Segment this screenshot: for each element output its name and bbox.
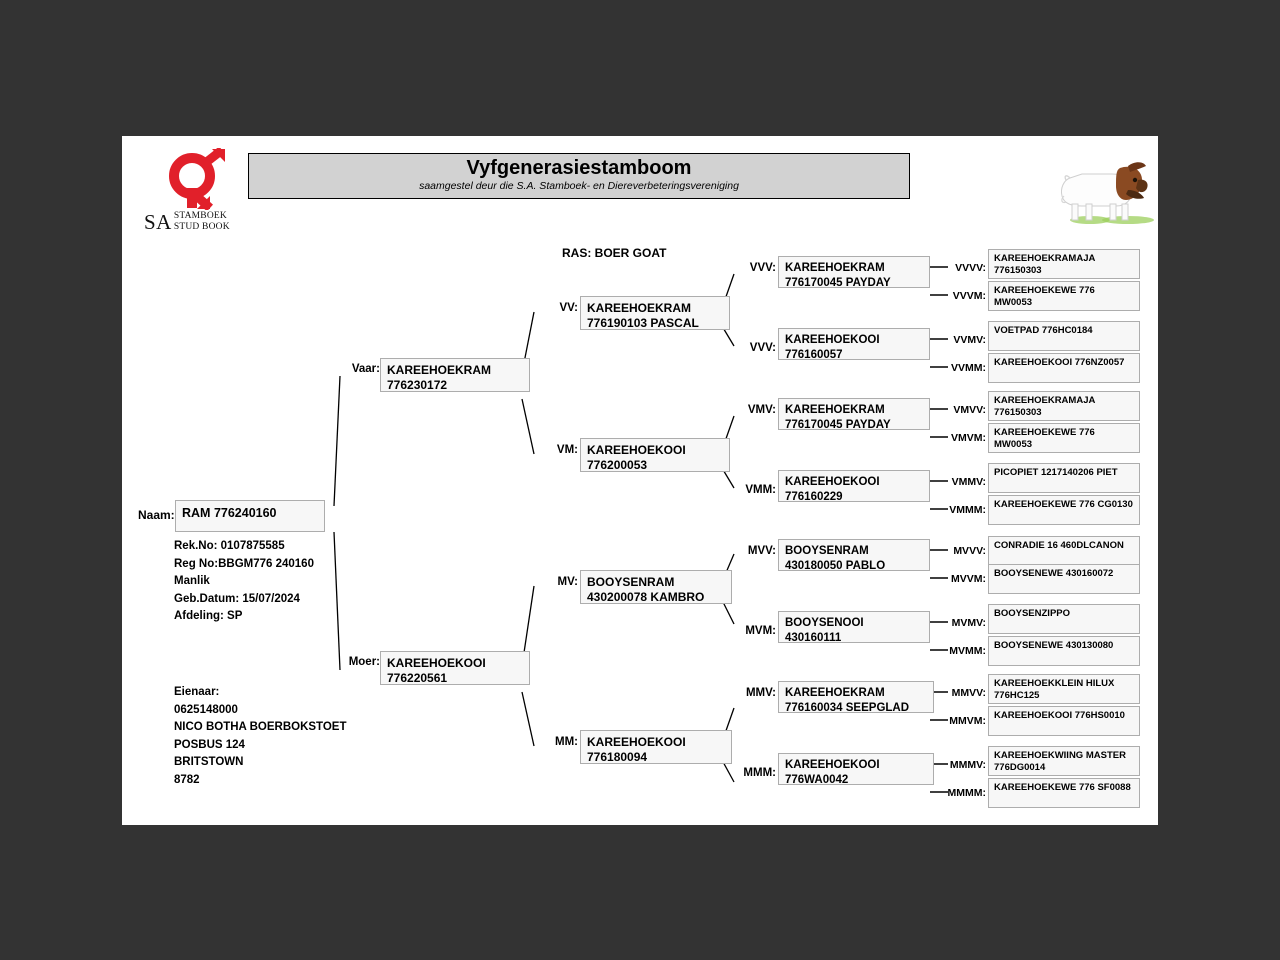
pedigree-box-mmvv[interactable]: KAREEHOEKKLEIN HILUX 776HC125 — [988, 674, 1140, 704]
pedigree-box-vmvm-line1: KAREEHOEKEWE 776 — [994, 427, 1134, 439]
owner-name: NICO BOTHA BOERBOKSTOET — [174, 719, 347, 737]
relation-label-vmv: VMV: — [730, 404, 776, 416]
pedigree-box-mvm[interactable]: BOOYSENOOI 430160111 — [778, 611, 930, 643]
pedigree-box-mvvv[interactable]: CONRADIE 16 460DLCANON — [988, 536, 1140, 566]
pedigree-box-vmv-line2: 776170045 PAYDAY — [785, 418, 923, 431]
pedigree-box-vmv[interactable]: KAREEHOEKRAM 776170045 PAYDAY — [778, 398, 930, 430]
pedigree-box-mmm-line2: 776WA0042 — [785, 773, 927, 786]
pedigree-box-mmm-line1: KAREEHOEKOOI — [785, 758, 927, 773]
relation-label-vmvm: VMVM: — [940, 432, 986, 444]
relation-label-vvvm: VVVM: — [944, 290, 986, 302]
relation-label-mvvv: MVVV: — [944, 545, 986, 557]
pedigree-box-moer[interactable]: KAREEHOEKOOI 776220561 — [380, 651, 530, 685]
pedigree-box-mmv-line2: 776160034 SEEPGLAD — [785, 701, 927, 714]
pedigree-box-vvm-line1: KAREEHOEKOOI — [785, 333, 923, 348]
relation-label-mvmv: MVMV: — [940, 617, 986, 629]
pedigree-box-mmmm[interactable]: KAREEHOEKEWE 776 SF0088 — [988, 778, 1140, 808]
subject-detail-birthdate: Geb.Datum: 15/07/2024 — [174, 591, 314, 609]
pedigree-box-vvm[interactable]: KAREEHOEKOOI 776160057 — [778, 328, 930, 360]
owner-city: BRITSTOWN — [174, 754, 347, 772]
relation-label-vaar: Vaar: — [336, 363, 380, 375]
pedigree-box-vmvm-line2: MW0053 — [994, 439, 1134, 451]
pedigree-box-mvm-line1: BOOYSENOOI — [785, 616, 923, 631]
pedigree-box-vaar-line1: KAREEHOEKRAM — [387, 363, 523, 378]
owner-postcode: 8782 — [174, 772, 347, 790]
pedigree-box-vmmv[interactable]: PICOPIET 1217140206 PIET — [988, 463, 1140, 493]
pedigree-box-vm[interactable]: KAREEHOEKOOI 776200053 — [580, 438, 730, 472]
pedigree-box-vvmv-line1: VOETPAD 776HC0184 — [994, 325, 1134, 337]
relation-label-vmvv: VMVV: — [944, 404, 986, 416]
relation-label-vmmv: VMMV: — [940, 476, 986, 488]
subject-name-label: Naam: — [138, 508, 175, 522]
pedigree-box-vmm-line2: 776160229 — [785, 490, 923, 503]
relation-label-mvmm: MVMM: — [936, 645, 986, 657]
pedigree-box-vmm-line1: KAREEHOEKOOI — [785, 475, 923, 490]
pedigree-box-mv-line2: 430200078 KAMBRO — [587, 590, 725, 604]
owner-address-line1: POSBUS 124 — [174, 737, 347, 755]
pedigree-box-vvvv[interactable]: KAREEHOEKRAMAJA 776150303 — [988, 249, 1140, 279]
pedigree-box-mmm[interactable]: KAREEHOEKOOI 776WA0042 — [778, 753, 934, 785]
relation-label-mvvm: MVVM: — [940, 573, 986, 585]
pedigree-box-vmmm-line1: KAREEHOEKEWE 776 CG0130 — [994, 499, 1134, 511]
screenshot-root: SASTAMBOEKSTUD BOOK Vyfgenerasiestamboom… — [0, 0, 1280, 960]
pedigree-box-mmvm-line1: KAREEHOEKOOI 776HS0010 — [994, 710, 1134, 722]
subject-details: Rek.No: 0107875585 Reg No:BBGM776 240160… — [174, 538, 314, 626]
pedigree-box-vvmm[interactable]: KAREEHOEKOOI 776NZ0057 — [988, 353, 1140, 383]
pedigree-box-vv[interactable]: KAREEHOEKRAM 776190103 PASCAL — [580, 296, 730, 330]
pedigree-box-vvv-line1: KAREEHOEKRAM — [785, 261, 923, 276]
pedigree-box-mv-line1: BOOYSENRAM — [587, 575, 725, 590]
relation-label-mmm: MMM: — [720, 767, 776, 779]
pedigree-box-vmmm[interactable]: KAREEHOEKEWE 776 CG0130 — [988, 495, 1140, 525]
pedigree-box-mm[interactable]: KAREEHOEKOOI 776180094 — [580, 730, 732, 764]
subject-name: RAM 776240160 — [182, 505, 318, 521]
relation-label-vmmm: VMMM: — [936, 504, 986, 516]
relation-label-vvm: VVV: — [730, 342, 776, 354]
pedigree-box-mvmm[interactable]: BOOYSENEWE 430130080 — [988, 636, 1140, 666]
pedigree-box-mm-line2: 776180094 — [587, 750, 725, 764]
relation-label-mmvv: MMVV: — [940, 687, 986, 699]
pedigree-box-moer-line2: 776220561 — [387, 671, 523, 685]
pedigree-box-mmvm[interactable]: KAREEHOEKOOI 776HS0010 — [988, 706, 1140, 736]
owner-label: Eienaar: — [174, 684, 347, 702]
pedigree-box-vmvv-line1: KAREEHOEKRAMAJA — [994, 395, 1134, 407]
relation-label-mmv: MMV: — [724, 687, 776, 699]
relation-label-vvmv: VVMV: — [944, 334, 986, 346]
pedigree-box-vm-line1: KAREEHOEKOOI — [587, 443, 723, 458]
relation-label-vm: VM: — [534, 444, 578, 456]
pedigree-box-vvvm-line1: KAREEHOEKEWE 776 — [994, 285, 1134, 297]
pedigree-box-vv-line2: 776190103 PASCAL — [587, 316, 723, 330]
relation-label-vvvv: VVVV: — [948, 262, 986, 274]
relation-label-vvv: VVV: — [730, 262, 776, 274]
pedigree-box-mvvm[interactable]: BOOYSENEWE 430160072 — [988, 564, 1140, 594]
relation-label-mvv: MVV: — [726, 545, 776, 557]
pedigree-box-mvvm-line1: BOOYSENEWE 430160072 — [994, 568, 1134, 580]
owner-phone: 0625148000 — [174, 702, 347, 720]
owner-details: Eienaar: 0625148000 NICO BOTHA BOERBOKST… — [174, 684, 347, 790]
pedigree-box-moer-line1: KAREEHOEKOOI — [387, 656, 523, 671]
pedigree-box-mvmm-line1: BOOYSENEWE 430130080 — [994, 640, 1134, 652]
pedigree-box-vmv-line1: KAREEHOEKRAM — [785, 403, 923, 418]
pedigree-box-mmmm-line1: KAREEHOEKEWE 776 SF0088 — [994, 782, 1134, 794]
pedigree-box-vvvv-line2: 776150303 — [994, 265, 1134, 277]
pedigree-box-mm-line1: KAREEHOEKOOI — [587, 735, 725, 750]
pedigree-box-vmvv-line2: 776150303 — [994, 407, 1134, 419]
pedigree-box-vvmm-line1: KAREEHOEKOOI 776NZ0057 — [994, 357, 1134, 369]
relation-label-vvmm: VVMM: — [940, 362, 986, 374]
relation-label-mmvm: MMVM: — [936, 715, 986, 727]
pedigree-box-vvvv-line1: KAREEHOEKRAMAJA — [994, 253, 1134, 265]
relation-label-vv: VV: — [534, 302, 578, 314]
pedigree-box-mmvv-line1: KAREEHOEKKLEIN HILUX — [994, 678, 1134, 690]
relation-label-moer: Moer: — [328, 656, 380, 668]
pedigree-box-vmvm[interactable]: KAREEHOEKEWE 776 MW0053 — [988, 423, 1140, 453]
pedigree-box-mvv-line1: BOOYSENRAM — [785, 544, 923, 559]
pedigree-box-mmmv[interactable]: KAREEHOEKWIING MASTER 776DG0014 — [988, 746, 1140, 776]
pedigree-box-vv-line1: KAREEHOEKRAM — [587, 301, 723, 316]
relation-label-mmmv: MMMV: — [936, 759, 986, 771]
pedigree-box-vmmv-line1: PICOPIET 1217140206 PIET — [994, 467, 1134, 479]
pedigree-box-vmvv[interactable]: KAREEHOEKRAMAJA 776150303 — [988, 391, 1140, 421]
pedigree-document-page: SASTAMBOEKSTUD BOOK Vyfgenerasiestamboom… — [122, 136, 1158, 825]
pedigree-box-vaar[interactable]: KAREEHOEKRAM 776230172 — [380, 358, 530, 392]
relation-label-mv: MV: — [534, 576, 578, 588]
pedigree-box-mv[interactable]: BOOYSENRAM 430200078 KAMBRO — [580, 570, 732, 604]
pedigree-box-mvm-line2: 430160111 — [785, 631, 923, 644]
subject-detail-afdeling: Afdeling: SP — [174, 608, 314, 626]
pedigree-box-vvv[interactable]: KAREEHOEKRAM 776170045 PAYDAY — [778, 256, 930, 288]
pedigree-box-mvvv-line1: CONRADIE 16 460DLCANON — [994, 540, 1134, 552]
relation-label-vmm: VMM: — [724, 484, 776, 496]
subject-detail-rekno: Rek.No: 0107875585 — [174, 538, 314, 556]
pedigree-box-mmvv-line2: 776HC125 — [994, 690, 1134, 702]
relation-label-mm: MM: — [534, 736, 578, 748]
pedigree-box-mmmv-line2: 776DG0014 — [994, 762, 1134, 774]
pedigree-box-mvv[interactable]: BOOYSENRAM 430180050 PABLO — [778, 539, 930, 571]
pedigree-box-vm-line2: 776200053 — [587, 458, 723, 472]
pedigree-box-mvmv-line1: BOOYSENZIPPO — [994, 608, 1134, 620]
pedigree-box-vvvm[interactable]: KAREEHOEKEWE 776 MW0053 — [988, 281, 1140, 311]
pedigree-box-mvv-line2: 430180050 PABLO — [785, 559, 923, 572]
pedigree-box-mmmv-line1: KAREEHOEKWIING MASTER — [994, 750, 1134, 762]
subject-detail-regno: Reg No:BBGM776 240160 — [174, 556, 314, 574]
relation-label-mvm: MVM: — [724, 625, 776, 637]
pedigree-box-mmv-line1: KAREEHOEKRAM — [785, 686, 927, 701]
relation-label-mmmm: MMMM: — [932, 787, 986, 799]
subject-box[interactable]: RAM 776240160 — [175, 500, 325, 532]
pedigree-box-vaar-line2: 776230172 — [387, 378, 523, 392]
pedigree-box-vvvm-line2: MW0053 — [994, 297, 1134, 309]
pedigree-box-mmv[interactable]: KAREEHOEKRAM 776160034 SEEPGLAD — [778, 681, 934, 713]
pedigree-box-vvmv[interactable]: VOETPAD 776HC0184 — [988, 321, 1140, 351]
pedigree-box-vvv-line2: 776170045 PAYDAY — [785, 276, 923, 289]
pedigree-box-vmm[interactable]: KAREEHOEKOOI 776160229 — [778, 470, 930, 502]
pedigree-box-vvm-line2: 776160057 — [785, 348, 923, 361]
pedigree-box-mvmv[interactable]: BOOYSENZIPPO — [988, 604, 1140, 634]
subject-detail-sex: Manlik — [174, 573, 314, 591]
